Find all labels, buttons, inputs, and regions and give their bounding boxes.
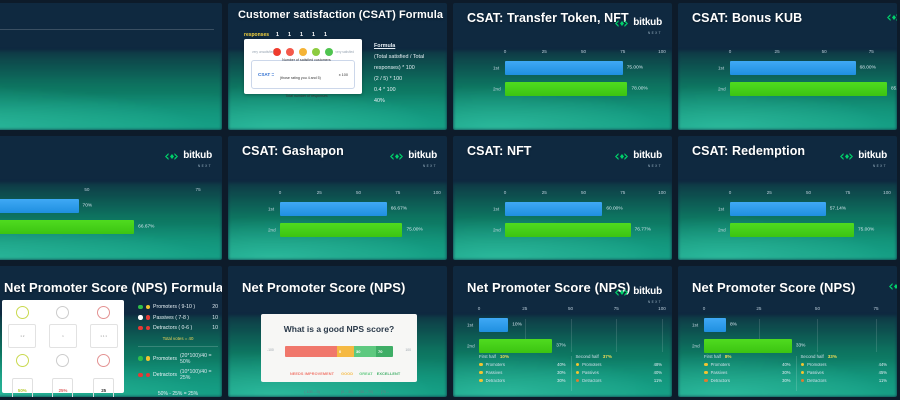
column-header: First half 8% [704, 354, 791, 359]
calc-expression: (20*100)/40 = 50% [180, 353, 218, 365]
table-row: 1st 60.00% [505, 201, 662, 217]
bar-series-second [280, 223, 402, 237]
slide-csat-bonus-kub[interactable]: CSAT: Bonus KUB 0 25 50 75 [678, 3, 897, 130]
row-value: 44% [879, 362, 887, 367]
row-label: Passives [807, 370, 876, 375]
segment-good: 0 [337, 346, 354, 357]
row-label: Passives [711, 370, 780, 375]
total-promoter-circle [16, 354, 29, 367]
list-item: Passives 30% [704, 370, 791, 375]
column-header: First half 10% [479, 354, 566, 359]
list-item: Promoters 48% [576, 362, 663, 367]
x-tick: 100 [658, 190, 666, 195]
column-header-label: First half [704, 354, 721, 359]
passives-dot2-icon [146, 315, 151, 320]
slide-title: Net Promoter Score (NPS) Formula [4, 280, 222, 295]
bitkub-logo: bitkub NEXT [839, 145, 887, 168]
formula-step: (Total satisfied / Total responses) * 10… [374, 52, 441, 74]
row-value: 40% [782, 362, 790, 367]
band-excellent: EXCELLENT (70 – 100) [377, 362, 393, 397]
x-tick: 50 [581, 49, 586, 54]
bar-series-first [730, 61, 856, 75]
slide-product-metric[interactable]: Product Metric CSAT NPS [0, 3, 222, 130]
row-value: 40% [557, 362, 565, 367]
x-axis: 0 25 50 75 [704, 306, 887, 314]
csat-formula-card: very unsatisfied very satisfied CSAT = N… [244, 39, 362, 94]
x-tick: 50 [822, 49, 827, 54]
table-row: 1st 8% [704, 317, 887, 333]
x-tick: 75 [873, 306, 878, 311]
bar-value-label: 66.67% [138, 225, 154, 230]
category-label: 2nd [692, 344, 700, 349]
column-header-label: Second half [801, 354, 824, 359]
slide-gallery-grid: Product Metric CSAT NPS Customer satisfa… [0, 0, 900, 400]
slide-csat-transfer-token-nft[interactable]: CSAT: Transfer Token, NFT bitkub NEXT 0 … [453, 3, 672, 130]
bitkub-logo: bitkub NEXT [389, 145, 437, 168]
x-tick: 100 [883, 190, 891, 195]
csat-bar-chart: 50 75 70% 66.67% [0, 181, 222, 254]
nps-tree-diagram: 1 2 1 1 1 1 50% 25% [2, 300, 124, 393]
slide-title: Customer satisfaction (CSAT) Formula [238, 9, 443, 21]
nps-benchmark-card: What is a good NPS score? -100 100 0 30 … [261, 314, 417, 382]
bar-series-first [505, 202, 602, 216]
score-box: 1 [49, 324, 77, 348]
row-label: Detractors [711, 378, 780, 383]
score-box: 1 2 [8, 324, 36, 348]
promoters-dot2-icon [146, 356, 151, 361]
csat-bar-chart: 0 25 50 75 100 1st 75.00% 2 [453, 43, 672, 124]
scale-right-label: very satisfied [335, 50, 354, 54]
slide-nps-result-first[interactable]: Net Promoter Score (NPS) bitkub NEXT 0 2… [453, 266, 672, 397]
slide-title: Net Promoter Score (NPS) [467, 280, 631, 295]
bar-value-label: 78.00% [631, 87, 647, 92]
bar-value-label: 37% [556, 344, 566, 349]
bitkub-wordmark: bitkub [408, 150, 437, 161]
result-nps: 25 [93, 378, 114, 397]
bitkub-sub-wordmark: NEXT [408, 164, 437, 168]
csat-equation-lhs: CSAT = [258, 72, 274, 77]
band-name: GREAT [359, 372, 373, 376]
bar-value-label: 60.00% [606, 207, 622, 212]
bar-group: 1st 68.00% 2nd 85.00% [730, 60, 887, 102]
x-axis: 0 25 50 75 100 [505, 190, 662, 198]
calc-label: Promoters [153, 356, 177, 362]
passives-dot-icon [704, 371, 708, 375]
bar-value-label: 75.00% [627, 66, 643, 71]
response-count: 1 [310, 32, 317, 38]
list-item: Detractors 30% [704, 378, 791, 383]
band-range: (70 – 100) [381, 390, 389, 397]
category-label: 1st [718, 66, 724, 71]
bitkub-sub-wordmark: NEXT [633, 164, 662, 168]
gridline [662, 319, 663, 352]
column-header-label: Second half [576, 354, 599, 359]
bitkub-wordmark: bitkub [633, 286, 662, 297]
x-tick: 25 [767, 190, 772, 195]
detractors-dot-icon [801, 379, 805, 383]
bitkub-wordmark: bitkub [858, 150, 887, 161]
result-detractors: 25% [52, 378, 73, 397]
band-name: GOOD [341, 372, 353, 376]
band-great: GREAT (30 – 70) [355, 362, 377, 397]
bar-series-first [730, 202, 826, 216]
list-item: Detractors 30% [479, 378, 566, 383]
bitkub-logo [886, 12, 897, 23]
row-label: Detractors [582, 378, 651, 383]
csat-bar-chart: 0 25 50 75 1st 68.00% 2nd [678, 43, 897, 124]
bitkub-chevron-logo-icon [888, 281, 897, 292]
list-item: Detractors 11% [801, 378, 888, 383]
calc-detractors: Detractors (10*100)/40 = 25% [138, 369, 218, 381]
x-tick: 0 [504, 49, 507, 54]
bitkub-chevron-logo-icon [164, 151, 179, 162]
x-tick: 75 [845, 190, 850, 195]
nps-bar-chart: 0 25 50 75 1st 8% 2nd [678, 300, 897, 348]
bar-series-second [730, 82, 887, 96]
slide-nps-good-score[interactable]: Net Promoter Score (NPS) What is a good … [228, 266, 447, 397]
passives-dot-icon [479, 371, 483, 375]
bitkub-chevron-logo-icon [389, 151, 404, 162]
list-item: Promoters 40% [479, 362, 566, 367]
x-tick: 50 [568, 306, 573, 311]
total-detractor-circle [97, 354, 110, 367]
bitkub-wordmark: bitkub [633, 17, 662, 28]
slide-title: CSAT: Redemption [692, 144, 805, 158]
formula-step: 40% [374, 96, 441, 107]
bitkub-chevron-logo-icon [614, 151, 629, 162]
x-tick: 75 [196, 187, 201, 192]
response-count: 1 [322, 32, 329, 38]
x-axis: 0 25 50 75 100 [730, 190, 887, 198]
passives-dot-icon [801, 371, 805, 375]
promoters-dot2-icon [146, 305, 151, 310]
bar-series-first [280, 202, 387, 216]
bar-series-second [730, 223, 854, 237]
x-axis: 0 25 50 75 100 [479, 306, 662, 314]
csat-multiplier: x 100 [339, 73, 348, 77]
row-value: 11% [879, 378, 887, 383]
column-header-value: 8% [725, 354, 732, 359]
bar-series-second [505, 223, 631, 237]
csat-equation: CSAT = Number of satisfied customers (th… [251, 60, 355, 89]
nps-column-first-half: First half 8% Promoters 40% Passives 30% [704, 354, 791, 393]
fraction-denominator: Total number of responses [285, 94, 327, 98]
nps-breakdown-columns: First half 8% Promoters 40% Passives 30% [704, 354, 887, 393]
responses-label: responses [244, 32, 269, 38]
promoters-dot-icon [479, 363, 483, 367]
scale-max-label: 100 [405, 348, 411, 352]
slide-title: Net Promoter Score (NPS) [242, 280, 406, 295]
nps-legend: Promoters ( 9-10 ) 20 Passives ( 7-8 ) 1… [138, 304, 218, 397]
response-count: 1 [298, 32, 305, 38]
diagram-row-totals [2, 354, 124, 367]
csat-bar-chart: 0 25 50 75 100 1st 57.14% 2 [678, 184, 897, 254]
bar-series-first [479, 318, 508, 332]
title-divider [0, 29, 214, 30]
x-tick: 50 [84, 187, 89, 192]
bar-value-label: 10% [512, 323, 522, 328]
bar-group: 1st 8% 2nd 33% [704, 317, 887, 359]
bitkub-chevron-logo-icon [614, 287, 629, 298]
x-tick: 25 [522, 306, 527, 311]
slide-csat-partial-left[interactable]: bitkub NEXT 50 75 70% 66.67% [0, 136, 222, 260]
bar-value-label: 70% [83, 204, 93, 209]
x-tick: 100 [658, 49, 666, 54]
table-row: 1st 10% [479, 317, 662, 333]
bitkub-sub-wordmark: NEXT [858, 164, 887, 168]
node-promoter-circle [16, 306, 29, 319]
bitkub-wordmark-wrap: bitkub NEXT [858, 145, 887, 168]
band-name: EXCELLENT [377, 372, 400, 376]
nps-benchmark-scale: 0 30 70 [285, 346, 393, 357]
bitkub-chevron-logo-icon [839, 151, 854, 162]
promoters-dot-icon [138, 356, 143, 361]
row-value: 48% [654, 362, 662, 367]
row-label: Passives [582, 370, 651, 375]
legend-label: Promoters ( 9-10 ) [153, 304, 209, 310]
x-tick: 25 [756, 306, 761, 311]
detractors-dot-icon [479, 379, 483, 383]
column-header-value: 37% [603, 354, 612, 359]
bar-value-label: 75.00% [406, 228, 422, 233]
x-tick: 75 [620, 190, 625, 195]
row-label: Promoters [711, 362, 780, 367]
slide-csat-formula[interactable]: Customer satisfaction (CSAT) Formula res… [228, 3, 447, 130]
x-axis: 50 75 [0, 187, 212, 195]
band-range: (0 – 30) [341, 390, 353, 394]
row-value: 30% [782, 378, 790, 383]
bar-value-label: 85.00% [891, 87, 897, 92]
bar-group: 1st 75.00% 2nd 78.00% [505, 60, 662, 102]
result-detractors-pct: 25% [59, 388, 68, 393]
csat-equation-fraction: Number of satisfied customers (those rat… [279, 48, 334, 102]
segment-tick-30: 30 [356, 349, 360, 354]
legend-divider [138, 346, 218, 347]
table-row: 70% [0, 198, 212, 214]
legend-label: Detractors ( 0-6 ) [153, 325, 209, 331]
x-axis: 0 25 50 75 [730, 49, 887, 57]
nps-breakdown-columns: First half 10% Promoters 40% Passives 30… [479, 354, 662, 393]
row-value: 30% [557, 370, 565, 375]
nps-bar-chart: 0 25 50 75 100 1st 10% [453, 300, 672, 348]
response-count: 1 [274, 32, 281, 38]
csat-bar-chart: 0 25 50 75 100 1st 60.00% 2 [453, 184, 672, 254]
table-row: 2nd 37% [479, 338, 662, 354]
category-label: 1st [467, 323, 473, 328]
bitkub-chevron-logo-icon [886, 12, 897, 23]
x-tick: 0 [279, 190, 282, 195]
promoters-dot-icon [704, 363, 708, 367]
bitkub-sub-wordmark: NEXT [183, 164, 212, 168]
diagram-row-results: 50% 25% 25 [2, 378, 124, 397]
formula-steps: Formula (Total satisfied / Total respons… [374, 41, 441, 107]
x-tick: 100 [433, 190, 441, 195]
row-value: 45% [879, 370, 887, 375]
legend-value: 10 [212, 315, 218, 321]
bar-series-second [0, 220, 134, 234]
slide-title: CSAT: Gashapon [242, 144, 344, 158]
bar-value-label: 66.67% [391, 207, 407, 212]
x-tick: 25 [542, 190, 547, 195]
calc-expression: (10*100)/40 = 25% [180, 369, 218, 381]
slide-csat-gashapon[interactable]: CSAT: Gashapon bitkub NEXT 0 25 50 75 [228, 136, 447, 260]
table-row: 1st 75.00% [505, 60, 662, 76]
category-label: 1st [692, 323, 698, 328]
list-item: Detractors 11% [576, 378, 663, 383]
category-label: 2nd [493, 228, 501, 233]
bar-series-first [0, 199, 79, 213]
bitkub-wordmark-wrap: bitkub NEXT [633, 145, 662, 168]
slide-csat-redemption[interactable]: CSAT: Redemption bitkub NEXT 0 25 50 75 [678, 136, 897, 260]
band-needs-improvement: NEEDS IMPROVEMENT (-100 – 0) [285, 362, 339, 397]
result-promoters-pct: 50% [18, 388, 27, 393]
row-value: 11% [654, 378, 662, 383]
x-tick: 50 [356, 190, 361, 195]
detractors-dot-icon [138, 373, 143, 378]
passives-dot-icon [576, 371, 580, 375]
segment-great: 30 [354, 346, 376, 357]
x-tick: 50 [815, 306, 820, 311]
x-tick: 0 [703, 306, 706, 311]
slide-nps-formula[interactable]: Net Promoter Score (NPS) Formula 1 2 1 1… [0, 266, 222, 397]
bar-value-label: 8% [730, 323, 737, 328]
slide-title: Net Promoter Score (NPS) [692, 280, 856, 295]
detractors-dot2-icon [146, 326, 151, 331]
segment-tick-70: 70 [378, 349, 382, 354]
category-label: 2nd [268, 228, 276, 233]
table-row: 2nd 33% [704, 338, 887, 354]
bitkub-logo: bitkub NEXT [164, 145, 212, 168]
list-item: Passives 30% [479, 370, 566, 375]
nps-column-first-half: First half 10% Promoters 40% Passives 30… [479, 354, 566, 393]
scale-min-label: -100 [267, 348, 274, 352]
category-label: 2nd [467, 344, 475, 349]
bar-series-second [704, 339, 792, 353]
list-item: Passives 45% [801, 370, 888, 375]
table-row: 1st 66.67% [280, 201, 437, 217]
bitkub-logo: bitkub NEXT [614, 145, 662, 168]
formula-heading: Formula [374, 41, 441, 52]
column-header: Second half 37% [576, 354, 663, 359]
x-tick: 75 [614, 306, 619, 311]
row-value: 30% [782, 370, 790, 375]
row-label: Detractors [807, 378, 876, 383]
row-value: 40% [654, 370, 662, 375]
column-header-value: 33% [828, 354, 837, 359]
bar-series-second [479, 339, 552, 353]
table-row: 2nd 75.00% [730, 222, 887, 238]
fraction-numerator-line1: Number of satisfied customers [282, 58, 331, 62]
nps-band-labels: NEEDS IMPROVEMENT (-100 – 0) GOOD (0 – 3… [285, 362, 393, 397]
category-label: 2nd [493, 87, 501, 92]
x-axis: 0 25 50 75 100 [505, 49, 662, 57]
promoters-dot-icon [801, 363, 805, 367]
slide-nps-result-second[interactable]: Net Promoter Score (NPS) 0 25 50 75 [678, 266, 897, 397]
score-box: 1 1 1 [90, 324, 118, 348]
fraction-numerator-line2: (those rating you 4 and 5) [280, 76, 321, 80]
band-name: NEEDS IMPROVEMENT [290, 372, 334, 376]
slide-title: CSAT: NFT [467, 144, 532, 158]
column-header: Second half 33% [801, 354, 888, 359]
result-nps-value: 25 [101, 388, 106, 393]
detractors-dot-icon [576, 379, 580, 383]
bar-group: 1st 60.00% 2nd 76.77% [505, 201, 662, 243]
x-tick: 0 [478, 306, 481, 311]
bar-series-second [505, 82, 627, 96]
legend-item-promoters: Promoters ( 9-10 ) 20 [138, 304, 218, 310]
bitkub-wordmark-wrap: bitkub NEXT [408, 145, 437, 168]
x-tick: 100 [658, 306, 666, 311]
table-row: 2nd 85.00% [730, 81, 887, 97]
segment-tick-0: 0 [339, 349, 341, 354]
row-label: Passives [486, 370, 555, 375]
row-label: Promoters [486, 362, 555, 367]
legend-value: 20 [212, 304, 218, 310]
promoters-dot-icon [576, 363, 580, 367]
legend-item-passives: Passives ( 7-8 ) 10 [138, 315, 218, 321]
table-row: 2nd 76.77% [505, 222, 662, 238]
bitkub-wordmark: bitkub [183, 150, 212, 161]
calc-label: Detractors [153, 372, 177, 378]
bar-value-label: 68.00% [860, 66, 876, 71]
bar-series-first [704, 318, 726, 332]
passives-dot-icon [138, 315, 143, 320]
list-item: Passives 40% [576, 370, 663, 375]
row-value: 30% [557, 378, 565, 383]
responses-row: responses 1 1 1 1 1 [244, 31, 362, 39]
node-passive-circle [56, 306, 69, 319]
response-count: 1 [286, 32, 293, 38]
formula-step: (2 / 5) * 100 [374, 74, 441, 85]
total-votes-label: Total votes = 40 [138, 336, 218, 341]
x-tick: 25 [317, 190, 322, 195]
bar-group: 1st 57.14% 2nd 75.00% [730, 201, 887, 243]
csat-bar-chart: 0 25 50 75 100 1st 66.67% 2 [228, 184, 447, 254]
bitkub-wordmark-wrap: bitkub NEXT [183, 145, 212, 168]
slide-title: CSAT: Bonus KUB [692, 11, 802, 25]
x-tick: 75 [620, 49, 625, 54]
list-item: Promoters 40% [704, 362, 791, 367]
category-label: 1st [493, 207, 499, 212]
scale-left-label: very unsatisfied [252, 50, 274, 54]
slide-csat-nft[interactable]: CSAT: NFT bitkub NEXT 0 25 50 75 [453, 136, 672, 260]
diagram-row-boxes: 1 2 1 1 1 1 [2, 324, 124, 348]
bar-group: 1st 66.67% 2nd 75.00% [280, 201, 437, 243]
x-tick: 0 [729, 190, 732, 195]
x-tick: 0 [504, 190, 507, 195]
bar-value-label: 75.00% [858, 228, 874, 233]
category-label: 2nd [718, 228, 726, 233]
bitkub-wordmark: bitkub [633, 150, 662, 161]
segment-excellent: 70 [376, 346, 393, 357]
slide-title: CSAT: Transfer Token, NFT [467, 11, 629, 25]
row-label: Promoters [582, 362, 651, 367]
table-row: 2nd 75.00% [280, 222, 437, 238]
total-passive-circle [56, 354, 69, 367]
band-range: (-100 – 0) [304, 390, 320, 394]
row-label: Detractors [486, 378, 555, 383]
node-detractor-circle [97, 306, 110, 319]
table-row: 66.67% [0, 219, 212, 235]
x-tick: 50 [806, 190, 811, 195]
detractors-dot-icon [704, 379, 708, 383]
x-axis: 0 25 50 75 100 [280, 190, 437, 198]
nps-column-second-half: Second half 37% Promoters 48% Passives 4… [576, 354, 663, 393]
category-label: 1st [493, 66, 499, 71]
card-title: What is a good NPS score? [261, 314, 417, 334]
x-tick: 75 [395, 190, 400, 195]
category-label: 1st [268, 207, 274, 212]
